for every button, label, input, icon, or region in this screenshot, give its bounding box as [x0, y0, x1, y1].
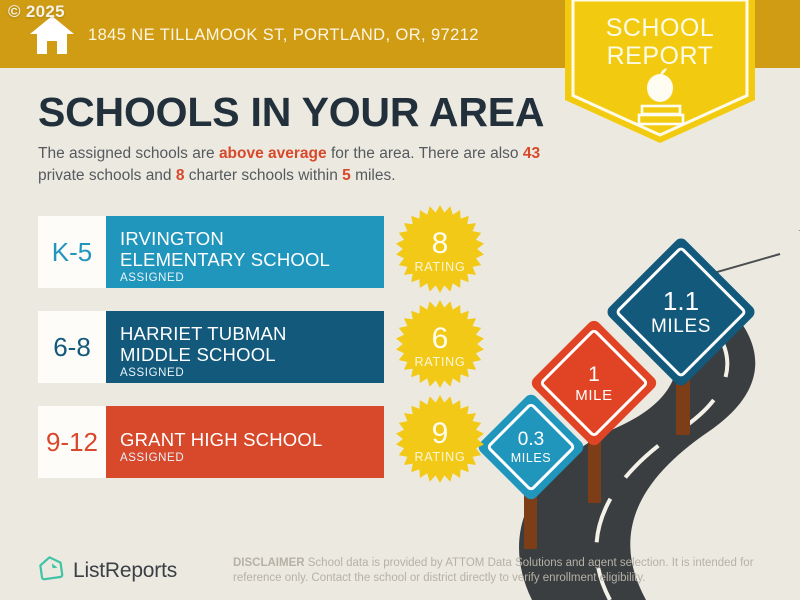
sign-distance-unit-2: MILE — [575, 388, 612, 403]
listreports-wordmark: ListReports — [73, 559, 177, 583]
subtitle-highlight-above-average: above average — [219, 145, 327, 162]
rating-label: RATING — [414, 260, 465, 274]
disclaimer-label: DISCLAIMER — [233, 557, 305, 569]
school-name-line-2: ELEMENTARY SCHOOL — [120, 249, 384, 270]
school-row[interactable]: 9-12 GRANT HIGH SCHOOL ASSIGNED 9 RATING — [38, 406, 384, 478]
school-name-line-1: IRVINGTON — [120, 228, 384, 249]
grade-range-badge: K-5 — [38, 216, 106, 288]
grade-range-badge: 6-8 — [38, 311, 106, 383]
school-name-bar: IRVINGTON ELEMENTARY SCHOOL ASSIGNED — [106, 216, 384, 288]
sign-distance-value-1: 0.3 — [518, 430, 544, 449]
sign-distance-value-3: 1.1 — [663, 288, 699, 314]
page-title: SCHOOLS IN YOUR AREA — [38, 89, 544, 136]
badge-line-1: SCHOOL — [565, 14, 755, 42]
rating-label: RATING — [414, 450, 465, 464]
rating-value: 9 — [432, 420, 449, 448]
assigned-label: ASSIGNED — [120, 367, 384, 379]
rating-label: RATING — [414, 355, 465, 369]
school-name-line-1: HARRIET TUBMAN — [120, 323, 384, 344]
subtitle-highlight-radius: 5 — [342, 167, 351, 184]
subtitle-part-3: private schools and — [38, 167, 176, 184]
subtitle-highlight-private-count: 43 — [523, 145, 540, 162]
school-report-infographic: 1845 NE TILLAMOOK ST, PORTLAND, OR, 9721… — [0, 0, 800, 600]
rating-value: 8 — [432, 230, 449, 258]
rating-starburst: 6 RATING — [393, 300, 487, 394]
subtitle-part-1: The assigned schools are — [38, 145, 219, 162]
grade-range-badge: 9-12 — [38, 406, 106, 478]
school-name-bar: GRANT HIGH SCHOOL ASSIGNED — [106, 406, 384, 478]
subtitle-part-5: miles. — [351, 167, 396, 184]
school-row[interactable]: 6-8 HARRIET TUBMAN MIDDLE SCHOOL ASSIGNE… — [38, 311, 384, 383]
school-row[interactable]: K-5 IRVINGTON ELEMENTARY SCHOOL ASSIGNED… — [38, 216, 384, 288]
page-subtitle: The assigned schools are above average f… — [38, 143, 568, 187]
copyright-watermark: © 2025 — [8, 2, 65, 22]
school-name-bar: HARRIET TUBMAN MIDDLE SCHOOL ASSIGNED — [106, 311, 384, 383]
listreports-logo[interactable]: ListReports — [38, 555, 177, 586]
badge-line-2: REPORT — [565, 42, 755, 70]
sign-distance-unit-3: MILES — [651, 317, 711, 336]
rating-starburst: 8 RATING — [393, 205, 487, 299]
assigned-label: ASSIGNED — [120, 452, 384, 464]
sign-distance-value-2: 1 — [588, 364, 600, 385]
listreports-house-icon — [38, 555, 64, 586]
school-name-line-1: GRANT HIGH SCHOOL — [120, 429, 384, 450]
subtitle-part-4: charter schools within — [184, 167, 342, 184]
disclaimer-text: School data is provided by ATTOM Data So… — [233, 557, 754, 584]
distance-sign-1-1-miles: 1.1 MILES — [627, 258, 735, 366]
sign-distance-unit-1: MILES — [511, 452, 552, 465]
property-address: 1845 NE TILLAMOOK ST, PORTLAND, OR, 9721… — [88, 26, 479, 45]
assigned-label: ASSIGNED — [120, 272, 384, 284]
rating-starburst: 9 RATING — [393, 395, 487, 489]
rating-value: 6 — [432, 325, 449, 353]
badge-text: SCHOOL REPORT — [565, 14, 755, 70]
subtitle-part-2: for the area. There are also — [327, 145, 523, 162]
school-report-badge: SCHOOL REPORT — [565, 0, 755, 143]
distance-sign-0-3-miles: 0.3 MILES — [492, 408, 570, 486]
school-name-line-2: MIDDLE SCHOOL — [120, 344, 384, 365]
disclaimer: DISCLAIMER School data is provided by AT… — [233, 556, 773, 585]
